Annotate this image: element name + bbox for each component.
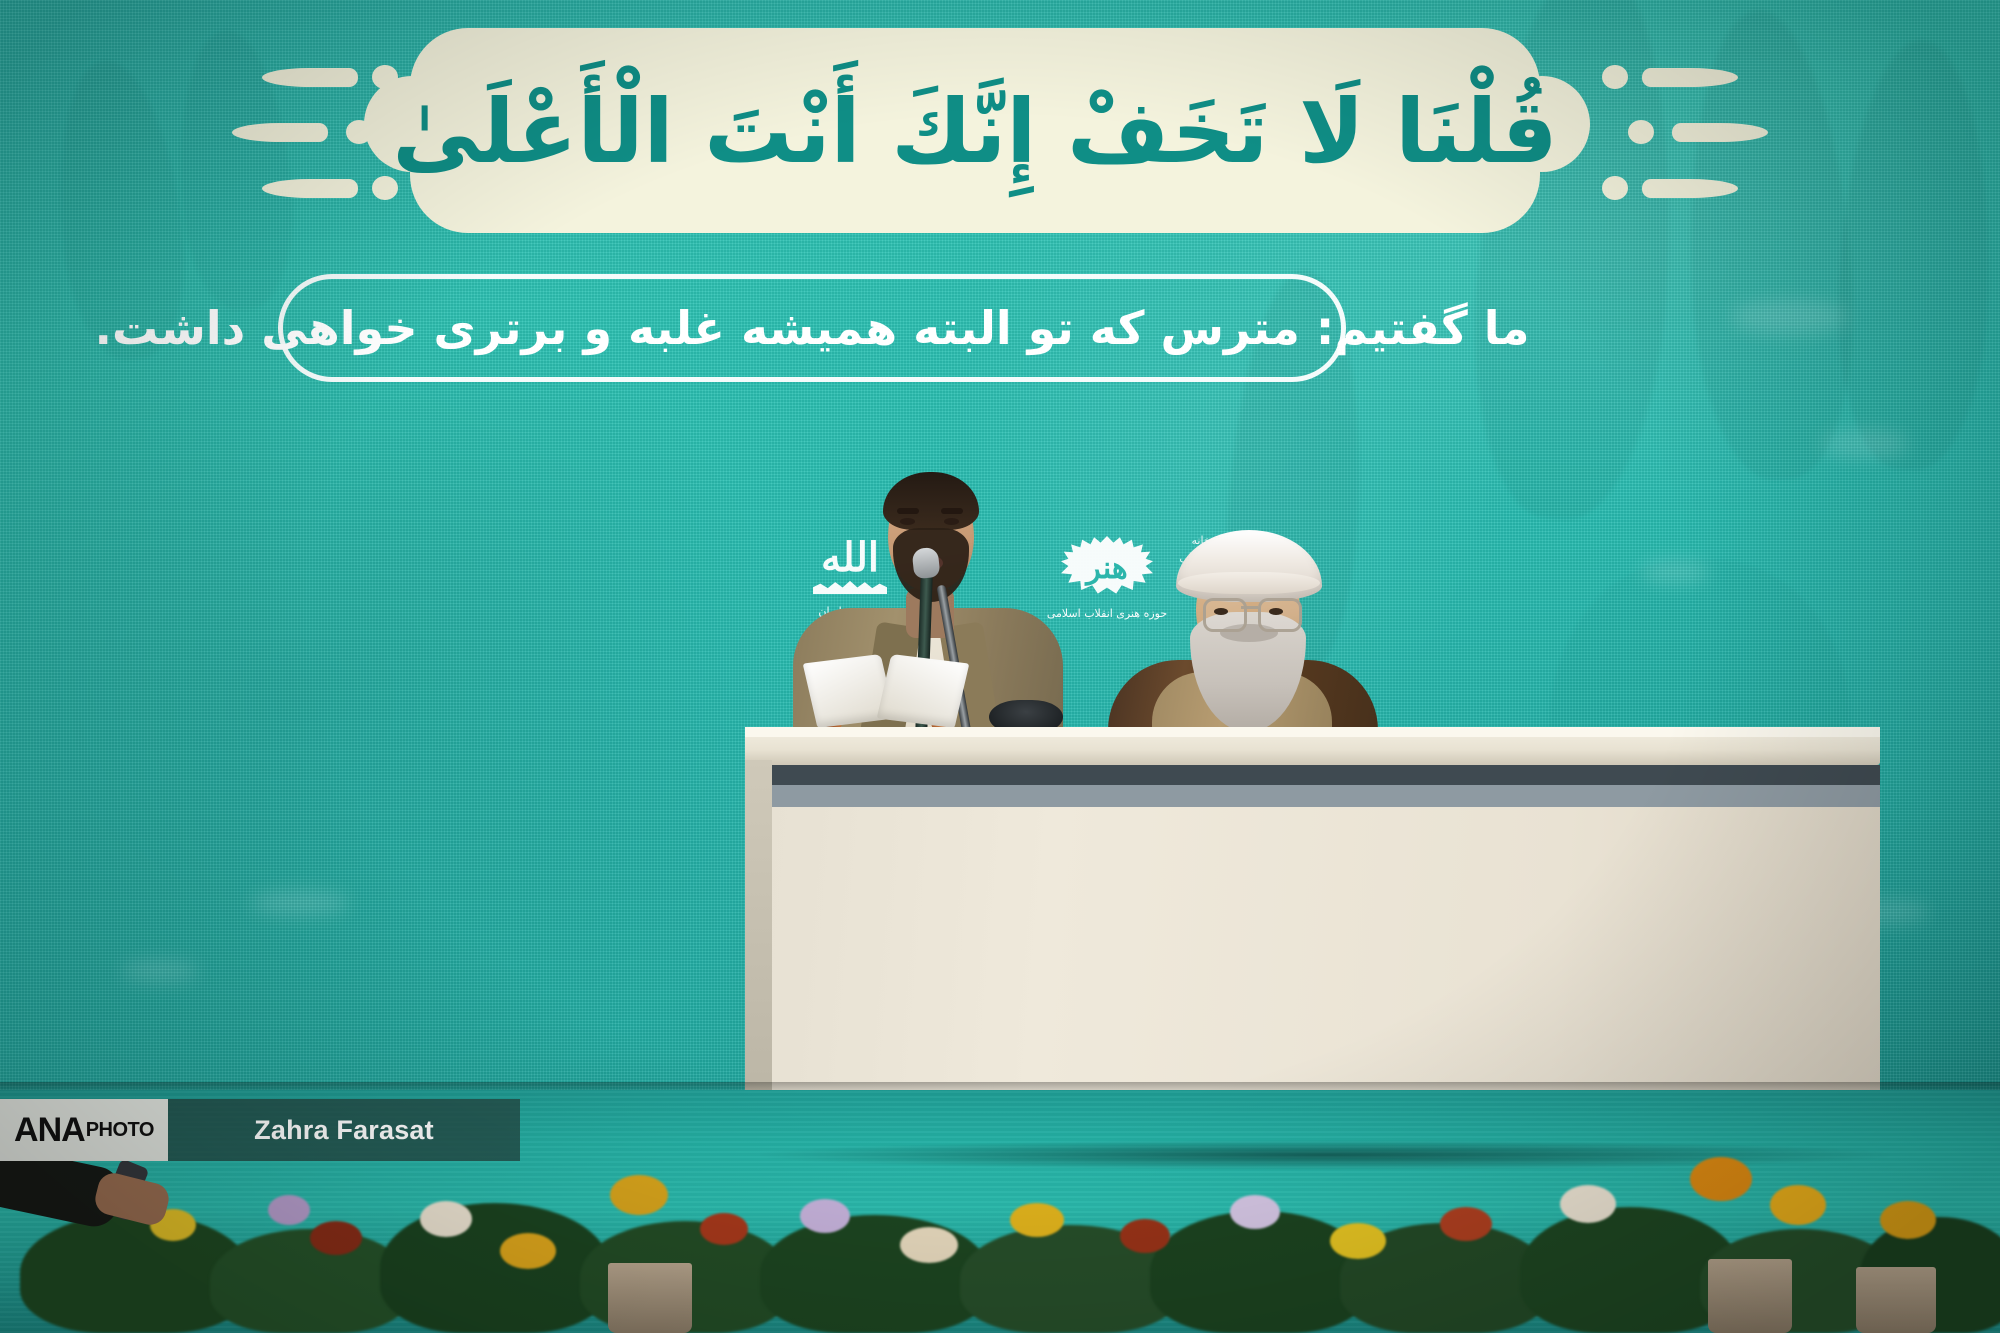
arabic-verse-text: قُلْنَا لَا تَخَفْ إِنَّكَ أَنْتَ الْأَع… (410, 34, 1540, 229)
eyeglasses-lens-left (1203, 598, 1247, 632)
flower-bloom (420, 1201, 472, 1237)
plaque-ornament-dot (1602, 176, 1628, 200)
flower-bloom (500, 1233, 556, 1269)
flower-bloom (900, 1227, 958, 1263)
backdrop-highlight (1730, 300, 1850, 334)
podium-top-highlight (745, 727, 1880, 737)
speaker-eye-right (944, 518, 959, 525)
speaker-brow-left (897, 508, 919, 514)
flower-bloom (1010, 1203, 1064, 1237)
quran-page-right (877, 654, 970, 728)
plaque-ornament-leaf (262, 68, 358, 87)
flower-bloom (268, 1195, 310, 1225)
speaker-brow-right (941, 508, 963, 514)
flower-bloom (1560, 1185, 1616, 1223)
cleric-eye-left (1214, 608, 1228, 615)
flower-bloom (1230, 1195, 1280, 1229)
flower-bloom (610, 1175, 668, 1215)
backdrop-highlight (250, 890, 350, 916)
hozeh-script-glyph: هنر (1086, 554, 1127, 584)
flower-bloom (310, 1221, 362, 1255)
plaque-ornament-dot (1602, 65, 1628, 89)
flower-pot (608, 1263, 692, 1333)
plaque-ornament-leaf (232, 123, 328, 142)
allah-emblem-glyph: الله (821, 538, 879, 578)
flower-arrangement (0, 1150, 2000, 1333)
flower-bloom (800, 1199, 850, 1233)
plaque-ornament-leaf (1642, 68, 1738, 87)
photo-canvas: قُلْنَا لَا تَخَفْ إِنَّكَ أَنْتَ الْأَع… (0, 0, 2000, 1333)
flower-bloom (1690, 1157, 1752, 1201)
flower-bloom (1330, 1223, 1386, 1259)
watermark-bar: ANA PHOTO Zahra Farasat (0, 1099, 520, 1161)
flower-pot (1856, 1267, 1936, 1333)
plaque-ornament-leaf (1672, 123, 1768, 142)
cleric-eye-right (1269, 608, 1283, 615)
flower-bush (760, 1215, 990, 1333)
flower-bloom (1880, 1201, 1936, 1239)
emblem-baseline-ornament (813, 580, 887, 598)
speaker-eye-left (900, 518, 915, 525)
ana-photo-logo: ANA PHOTO (0, 1099, 168, 1161)
eyeglasses-lens-right (1258, 598, 1302, 632)
flower-pot (1708, 1259, 1792, 1333)
backdrop-highlight (1640, 560, 1710, 584)
plaque-ornament-leaf (262, 179, 358, 198)
photo-wordmark: PHOTO (86, 1120, 154, 1141)
microphone-head-icon (912, 547, 941, 580)
allah-emblem-icon: الله (813, 538, 887, 600)
flower-bloom (1770, 1185, 1826, 1225)
backdrop-highlight (1820, 430, 1910, 458)
flower-bush (380, 1203, 610, 1333)
plaque-ornament-dot (1628, 120, 1654, 144)
photographer-credit: Zahra Farasat (168, 1099, 520, 1161)
ana-wordmark: ANA (14, 1113, 85, 1147)
flower-bloom (1440, 1207, 1492, 1241)
plaque-ornament-dot (346, 120, 372, 144)
backdrop-highlight (120, 960, 200, 982)
persian-translation-text: ما گفتیم: مترس که تو البته همیشه غلبه و … (278, 274, 1346, 382)
eyeglasses-bridge (1241, 606, 1258, 609)
podium-dark-band (770, 765, 1880, 785)
cleric-turban-wrap (1178, 572, 1320, 594)
flower-bloom (1120, 1219, 1170, 1253)
podium-grey-band (770, 785, 1880, 807)
plaque-ornament-leaf (1642, 179, 1738, 198)
flower-bloom (700, 1213, 748, 1245)
